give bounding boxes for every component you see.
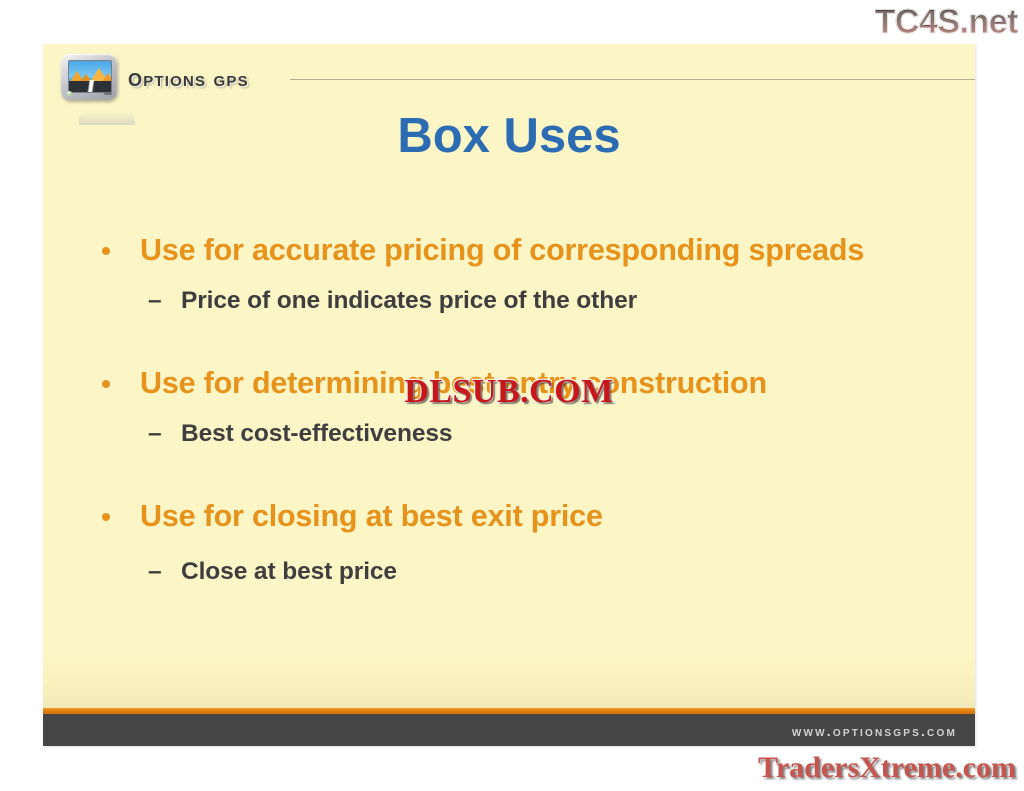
- spacer: [43, 272, 975, 284]
- device-led-indicator: [67, 91, 72, 96]
- gps-screen-graphic: [68, 60, 112, 93]
- list-item-label: Close at best price: [181, 558, 397, 585]
- page-title: Box Uses: [43, 108, 975, 164]
- footer-website-url: www.OptionsGPS.com: [792, 723, 957, 739]
- header-divider-rule: [290, 79, 975, 80]
- road-lane-marking: [71, 80, 111, 92]
- options-gps-logo-text: Options GPS: [128, 62, 249, 93]
- list-item: – Price of one indicates price of the ot…: [43, 284, 975, 318]
- list-item-label: Use for accurate pricing of correspondin…: [140, 233, 864, 267]
- bullet-dot-icon: [102, 247, 110, 255]
- list-item-label: Best cost-effectiveness: [181, 420, 452, 447]
- dash-marker-icon: –: [148, 284, 162, 318]
- gps-device-icon: [61, 54, 117, 100]
- spacer: [43, 538, 975, 555]
- list-item-label: Price of one indicates price of the othe…: [181, 287, 637, 314]
- options-gps-logo: Options GPS: [61, 54, 249, 100]
- tradersxtreme-watermark: TradersXtreme.com: [758, 751, 1016, 785]
- list-item: – Close at best price: [43, 555, 975, 589]
- list-item-label: Use for closing at best exit price: [140, 499, 603, 533]
- bullet-dot-icon: [102, 513, 110, 521]
- list-item: Use for accurate pricing of correspondin…: [43, 229, 975, 272]
- list-item: – Best cost-effectiveness: [43, 417, 975, 451]
- dash-marker-icon: –: [148, 555, 162, 589]
- dlsub-watermark: DLSUB.COM: [43, 373, 975, 411]
- list-item: Use for closing at best exit price: [43, 495, 975, 538]
- footer-bar: www.OptionsGPS.com: [43, 714, 975, 746]
- presentation-slide: Options GPS Box Uses Use for accurate pr…: [43, 44, 975, 746]
- spacer: [43, 451, 975, 495]
- dash-marker-icon: –: [148, 417, 162, 451]
- tc4s-brand-logo: TC4S.net: [875, 2, 1018, 42]
- device-button: [104, 92, 112, 95]
- spacer: [43, 318, 975, 362]
